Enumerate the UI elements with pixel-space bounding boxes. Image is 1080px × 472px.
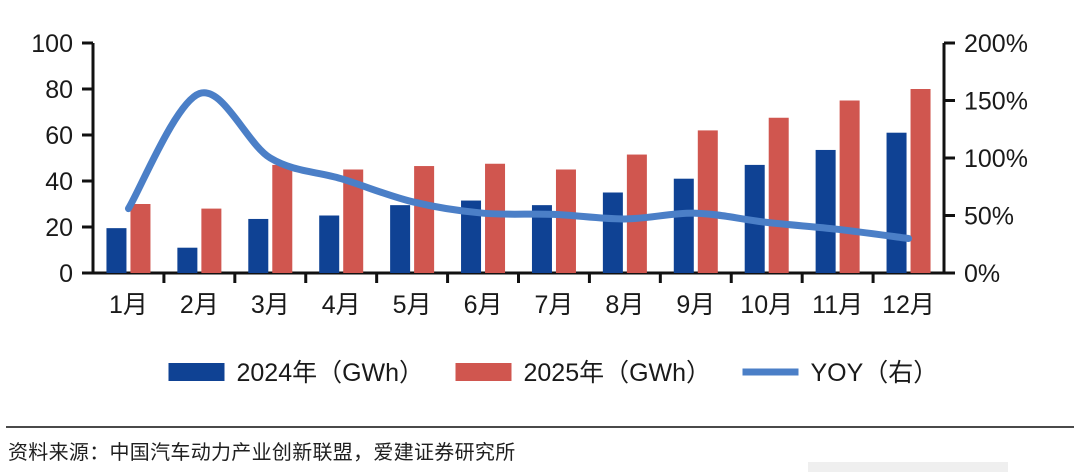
legend-item: 2024年（GWh） (169, 359, 425, 387)
x-axis-category-label: 4月 (322, 291, 361, 319)
bar-2025 (698, 130, 718, 273)
x-axis-category-label: 1月 (109, 291, 148, 319)
bar-2024 (390, 205, 410, 273)
bar-2025 (556, 170, 576, 274)
left-axis-tick-label: 100 (31, 30, 73, 58)
right-axis-tick-label: 200% (964, 30, 1028, 58)
source-note: 资料来源：中国汽车动力产业创新联盟，爱建证券研究所 (8, 436, 516, 465)
footer-divider (6, 426, 1074, 428)
legend-swatch-bar (169, 363, 225, 381)
bar-2024 (603, 193, 623, 274)
bar-2025 (130, 204, 150, 273)
right-axis-tick-label: 100% (964, 145, 1028, 173)
corner-placeholder (808, 462, 1008, 472)
x-axis-category-label: 8月 (605, 291, 644, 319)
chart-line-series (128, 93, 908, 239)
x-axis-category-label: 10月 (740, 291, 793, 319)
left-axis-tick-label: 0 (59, 260, 73, 288)
yoy-line (128, 93, 908, 239)
left-axis-tick-label: 60 (45, 122, 73, 150)
chart-legend: 2024年（GWh）2025年（GWh）YOY（右） (169, 359, 939, 387)
bar-2025 (201, 209, 221, 273)
right-axis-tick-label: 50% (964, 203, 1014, 231)
chart-footer: 资料来源：中国汽车动力产业创新联盟，爱建证券研究所 (0, 420, 1080, 472)
legend-label: YOY（右） (811, 359, 939, 387)
legend-item: 2025年（GWh） (456, 359, 712, 387)
bar-2024 (816, 150, 836, 273)
x-axis-category-label: 2月 (180, 291, 219, 319)
left-axis-tick-label: 20 (45, 214, 73, 242)
bar-2024 (177, 248, 197, 273)
x-axis-category-label: 3月 (251, 291, 290, 319)
bar-2024 (319, 216, 339, 274)
bar-2025 (414, 166, 434, 273)
legend-item: YOY（右） (743, 359, 939, 387)
legend-swatch-bar (456, 363, 512, 381)
x-axis-category-label: 7月 (535, 291, 574, 319)
bar-2024 (248, 219, 268, 273)
bar-2025 (840, 101, 860, 274)
x-axis-category-label: 11月 (812, 291, 863, 319)
bar-2025 (272, 165, 292, 273)
chart-axis-labels: 0204060801000%50%100%150%200%1月2月3月4月5月6… (31, 30, 1028, 319)
chart-figure: 0204060801000%50%100%150%200%1月2月3月4月5月6… (0, 0, 1080, 420)
legend-label: 2024年（GWh） (237, 359, 425, 387)
bar-2025 (911, 89, 931, 273)
left-axis-tick-label: 80 (45, 76, 73, 104)
x-axis-category-label: 5月 (393, 291, 432, 319)
combo-chart: 0204060801000%50%100%150%200%1月2月3月4月5月6… (0, 0, 1080, 420)
right-axis-tick-label: 150% (964, 88, 1028, 116)
left-axis-tick-label: 40 (45, 168, 73, 196)
bar-2024 (106, 228, 126, 273)
bar-2025 (485, 164, 505, 273)
x-axis-category-label: 12月 (882, 291, 935, 319)
x-axis-category-label: 9月 (676, 291, 715, 319)
bar-2024 (674, 179, 694, 273)
bar-2025 (627, 155, 647, 273)
right-axis-tick-label: 0% (964, 260, 1000, 288)
legend-label: 2025年（GWh） (524, 359, 712, 387)
bar-2025 (769, 118, 789, 273)
x-axis-category-label: 6月 (464, 291, 503, 319)
bar-2024 (887, 133, 907, 273)
